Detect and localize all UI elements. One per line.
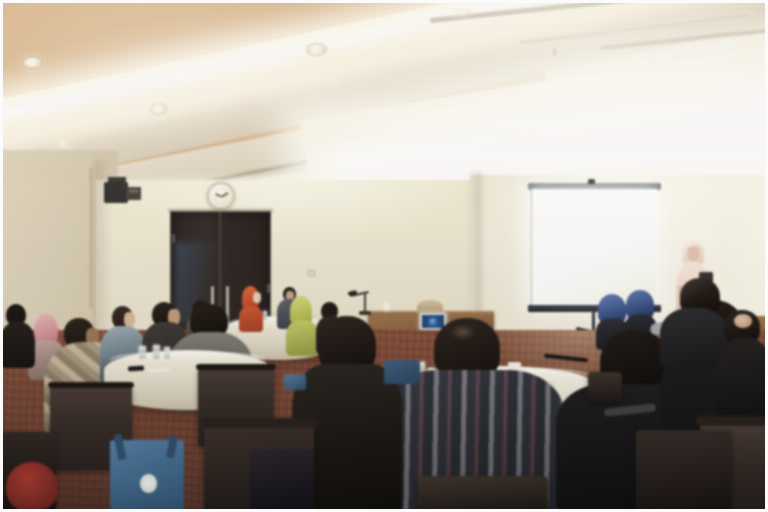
downlight-2-ring (306, 43, 327, 56)
presenter-face (687, 246, 700, 261)
downlight-5 (455, 8, 470, 16)
chair-3-arm (200, 418, 318, 428)
credenza-cup (384, 303, 389, 311)
plaid-shirt-head-highlight (450, 324, 476, 340)
chair-4[interactable] (418, 476, 548, 512)
bag-dark[interactable] (250, 450, 314, 512)
attendee-far-right-black (716, 310, 768, 430)
speaker-arm (122, 179, 125, 189)
attendee-far-left (0, 304, 36, 368)
door-frame-shadow (168, 209, 273, 212)
chair-8[interactable] (588, 372, 622, 402)
door-hinge-top (172, 234, 175, 243)
sprinkler-head-icon (553, 48, 556, 56)
door-hinge-bottom (267, 284, 270, 293)
speaker-highlight (129, 189, 138, 193)
wall-seam (90, 168, 92, 308)
chair-1-frame (48, 382, 134, 388)
downlight-1-ring (22, 56, 43, 69)
downlight-3-ring (150, 103, 168, 115)
clock-hand-minute (221, 192, 229, 197)
wall-speaker (104, 177, 144, 207)
wall-glow-back (96, 176, 488, 246)
wall-clock (207, 182, 235, 210)
glass-left-1 (139, 346, 146, 359)
attendee-hand (734, 314, 752, 328)
clock-face (213, 188, 229, 204)
glass-left-3 (164, 347, 170, 359)
seminar-room-photograph: Seminar room photograph Hotel / conferen… (0, 0, 768, 512)
mic-base (359, 311, 371, 315)
chair-2-frame (196, 364, 276, 370)
bag-blue-logo-icon (140, 474, 157, 493)
far-left-body (0, 322, 35, 368)
screen-surface (531, 189, 657, 306)
screen-top-knob-icon (588, 179, 595, 184)
downlight-4 (58, 141, 69, 147)
chair-5-arm (696, 416, 768, 426)
orange-hijab-face (253, 292, 261, 303)
chair-6[interactable] (636, 430, 732, 512)
bag-blue-small[interactable] (384, 360, 420, 384)
mic-pole (364, 294, 366, 312)
ponytail-face (124, 312, 135, 327)
wall-outlet-left (308, 270, 315, 276)
bag-blue-pouch[interactable] (284, 374, 306, 390)
bag-red-backpack[interactable] (6, 462, 58, 512)
glass-left-2 (153, 345, 160, 359)
